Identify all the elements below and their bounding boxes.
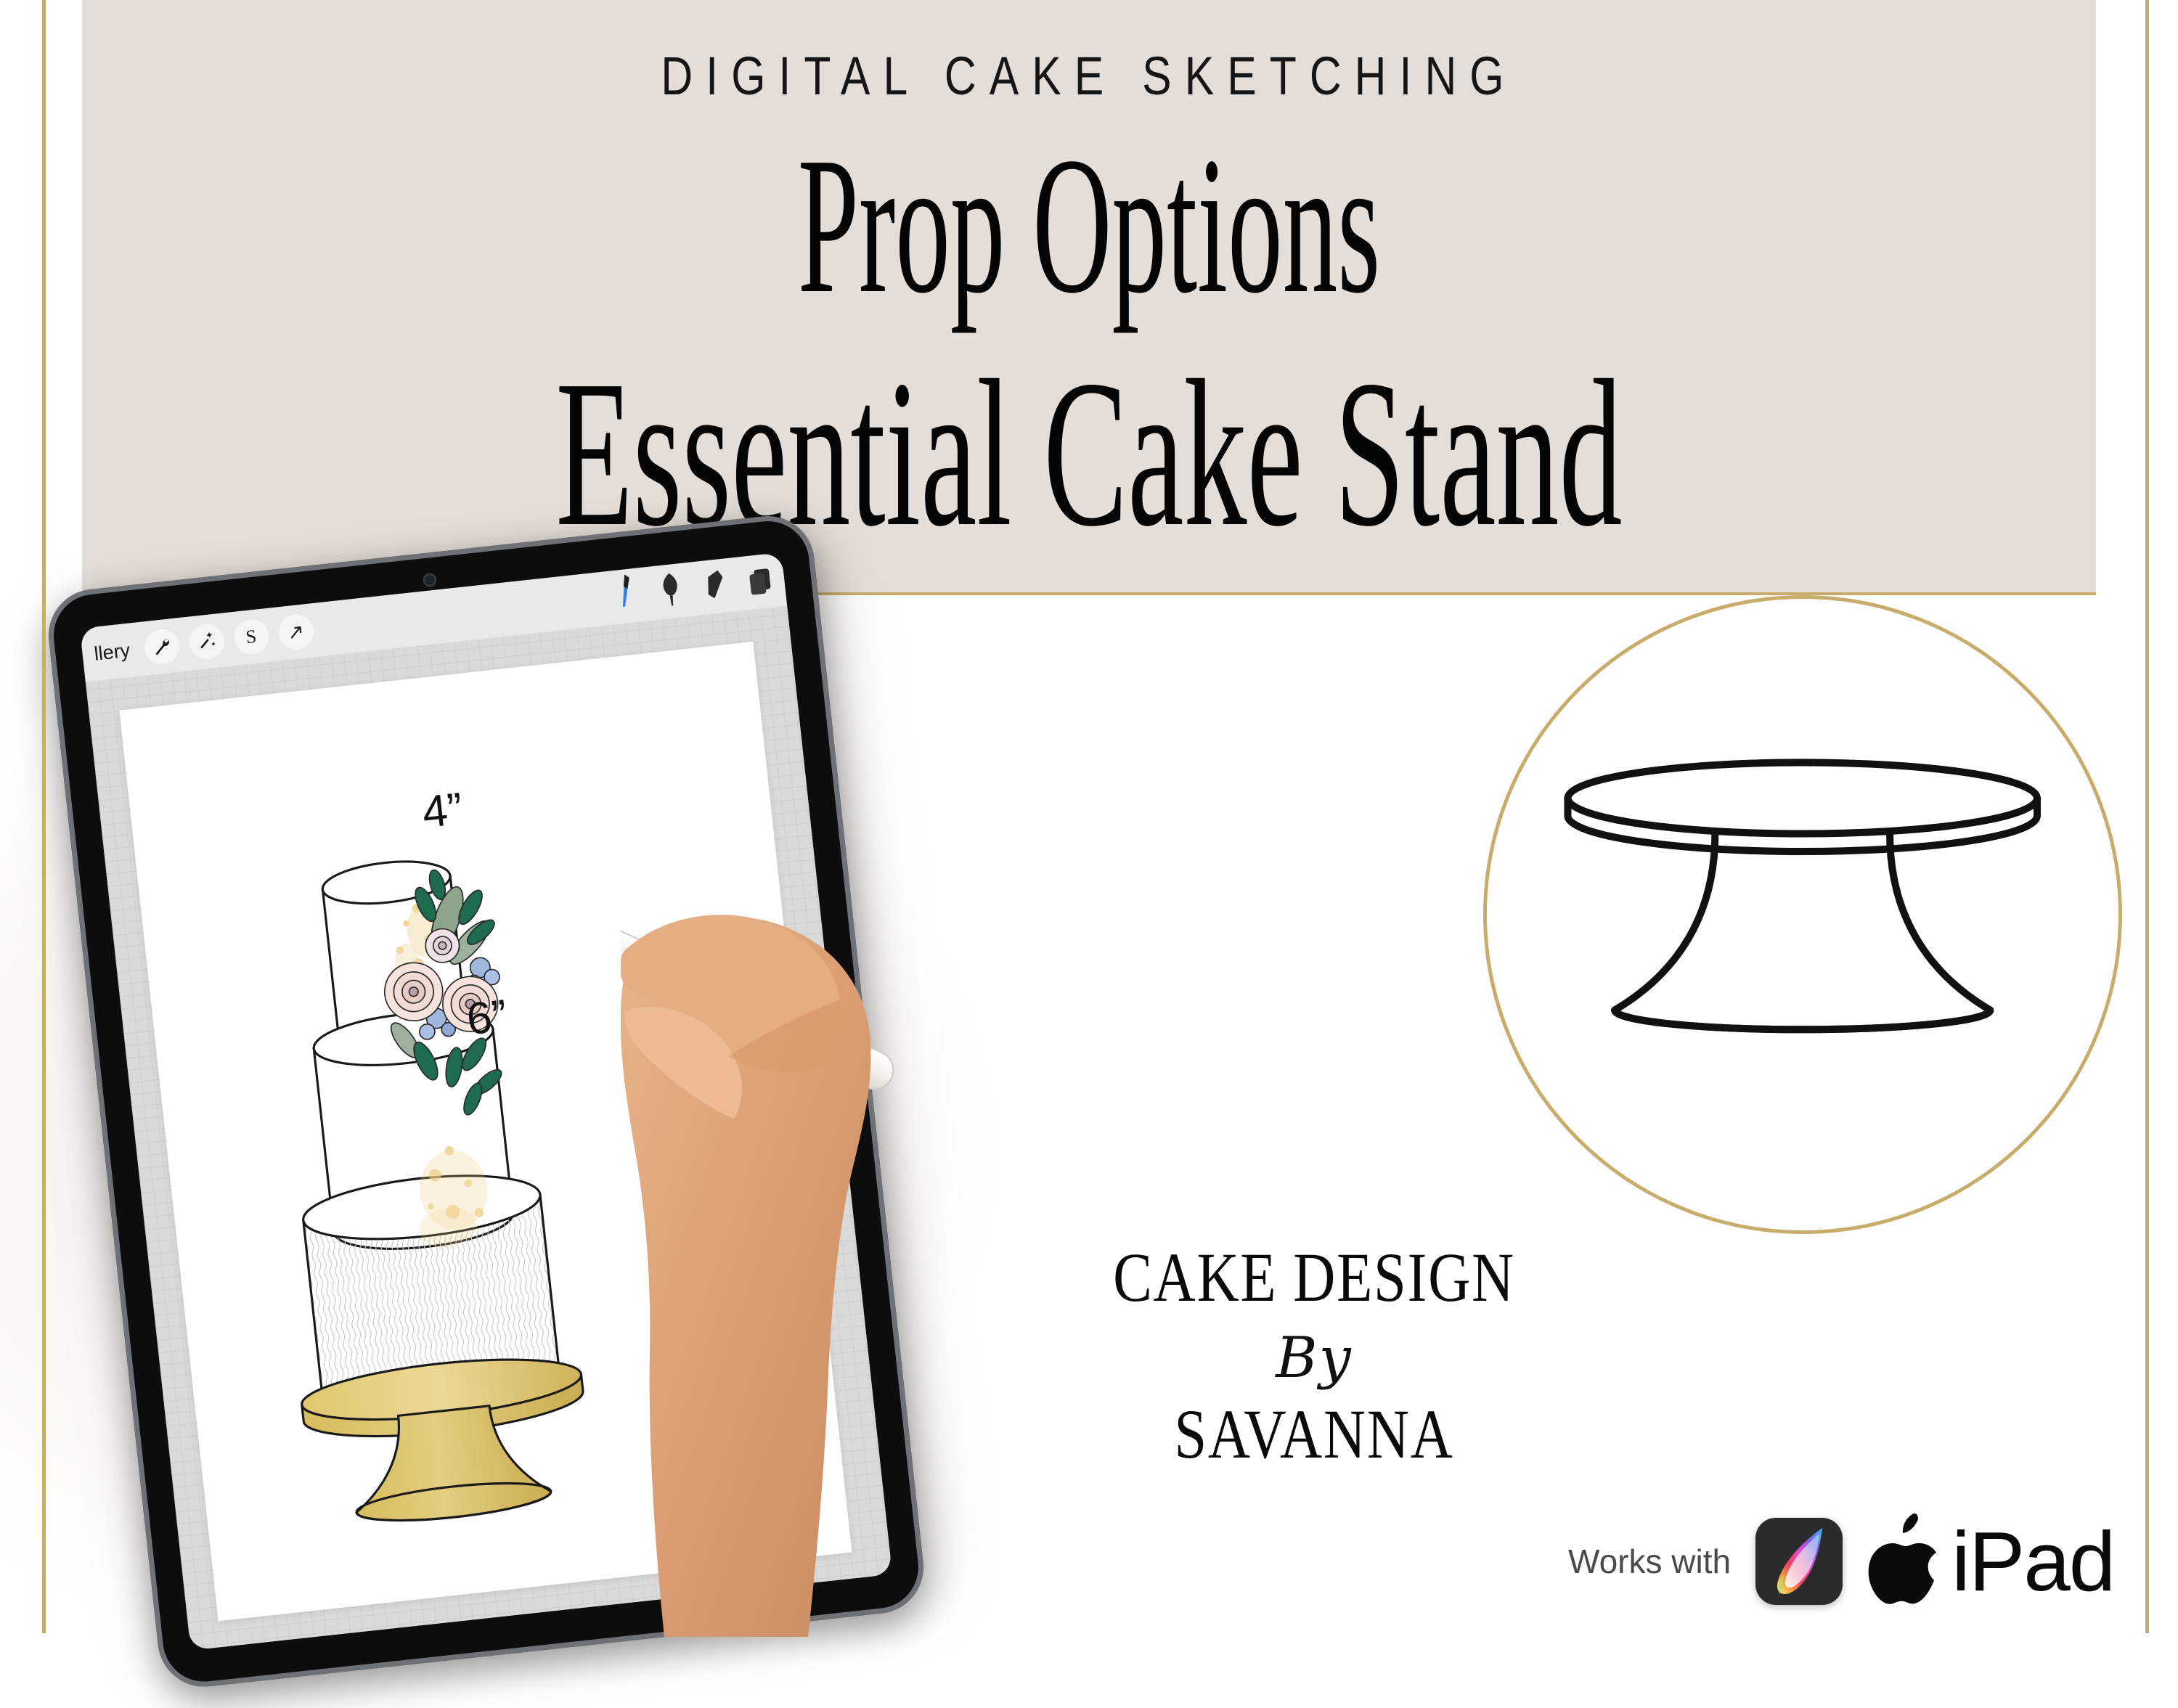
wrench-icon[interactable] [142,627,181,666]
cake-stand-emblem [1483,595,2122,1234]
page-title-line-1: Prop Options [525,128,1652,324]
apple-ipad-logo: iPad [1867,1513,2114,1609]
layers-icon[interactable] [746,560,774,599]
works-with-block: Works with [1568,1513,2114,1609]
selection-icon[interactable]: S [232,618,271,656]
gallery-button[interactable]: llery [93,639,131,665]
ipad-wordmark: iPad [1951,1519,2114,1603]
eraser-icon[interactable] [701,565,730,603]
toolbar-right-group [612,560,775,618]
tier-label-4in: 4” [420,783,465,839]
frame-line-right [2145,0,2149,1633]
eyebrow-text: DIGITAL CAKE SKETCHING [264,45,1915,107]
header-block: DIGITAL CAKE SKETCHING Prop Options Esse… [82,0,2096,595]
transform-icon[interactable] [277,613,315,651]
cake-stand-line-drawing [1543,725,2061,1104]
smudge-icon[interactable] [656,570,685,608]
brush-icon[interactable] [612,575,640,613]
front-camera-icon [422,572,437,587]
works-with-label: Works with [1568,1542,1731,1581]
frame-line-left [42,0,46,1633]
tier-label-6in: 6” [464,990,509,1046]
hand-with-stylus [621,904,1172,1637]
magic-wand-icon[interactable] [187,623,226,661]
apple-logo-icon [1867,1513,1949,1609]
procreate-app-icon [1755,1518,1843,1605]
